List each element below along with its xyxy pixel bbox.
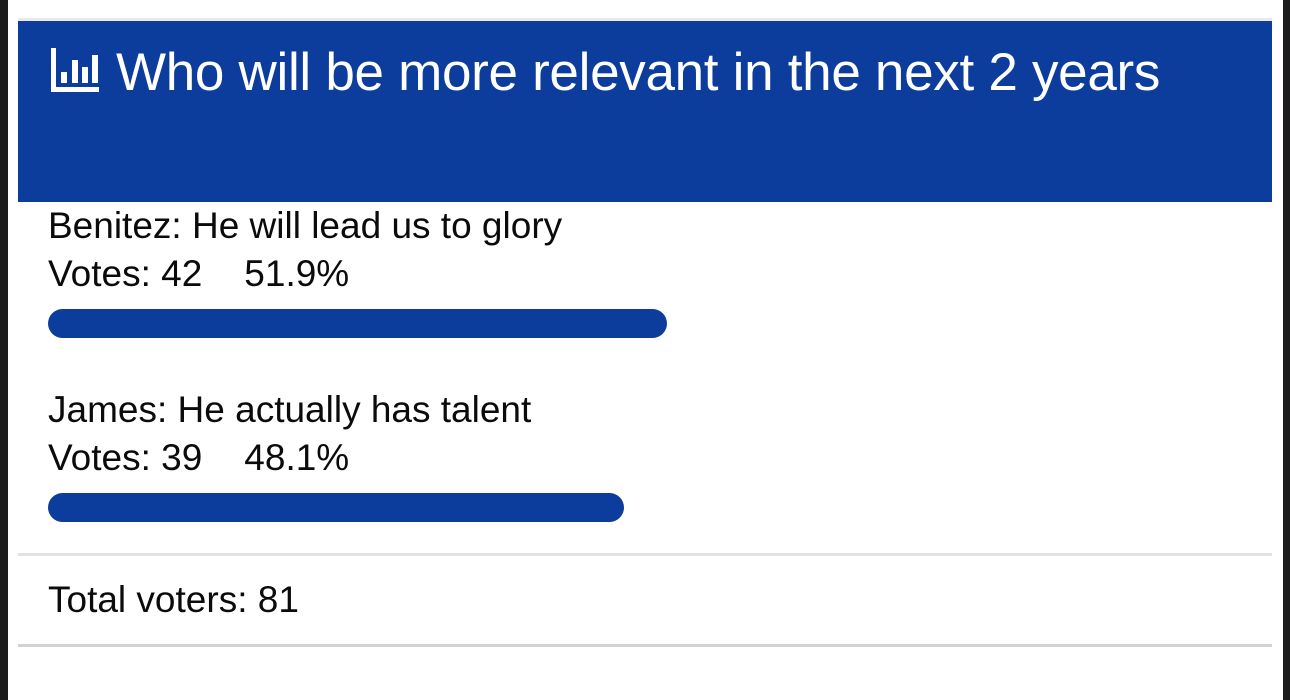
option-stats: Votes: 4251.9% — [48, 250, 1272, 298]
page-title: Who will be more relevant in the next 2 … — [48, 35, 1246, 111]
poll-option[interactable]: Benitez: He will lead us to glory Votes:… — [18, 202, 1272, 338]
poll-footer: Total voters: 81 — [18, 556, 1272, 644]
total-voters-label: Total voters: 81 — [48, 576, 299, 624]
option-label: James: He actually has talent — [48, 386, 1272, 434]
left-screen-edge — [0, 0, 8, 700]
option-votes: Votes: 42 — [48, 250, 202, 298]
right-screen-edge — [1283, 0, 1290, 700]
option-percent: 48.1% — [244, 434, 349, 482]
page-title-text: Who will be more relevant in the next 2 … — [116, 43, 1160, 102]
option-votes: Votes: 39 — [48, 434, 202, 482]
option-stats: Votes: 3948.1% — [48, 434, 1272, 482]
option-spacer — [18, 338, 1272, 386]
poll-header: Who will be more relevant in the next 2 … — [18, 18, 1272, 202]
option-percent: 51.9% — [244, 250, 349, 298]
divider-below-total — [18, 644, 1272, 647]
poll-options-list: Benitez: He will lead us to glory Votes:… — [18, 202, 1272, 647]
option-bar-fill — [48, 493, 624, 522]
pre-divider-spacer — [18, 522, 1272, 553]
option-label: Benitez: He will lead us to glory — [48, 202, 1272, 250]
option-bar-track — [48, 309, 1228, 338]
poll-screenshot: Who will be more relevant in the next 2 … — [0, 0, 1290, 700]
bar-chart-icon — [48, 46, 102, 96]
option-bar-track — [48, 493, 1228, 522]
poll-option[interactable]: James: He actually has talent Votes: 394… — [18, 386, 1272, 522]
poll-card: Who will be more relevant in the next 2 … — [18, 0, 1272, 700]
option-bar-fill — [48, 309, 667, 338]
